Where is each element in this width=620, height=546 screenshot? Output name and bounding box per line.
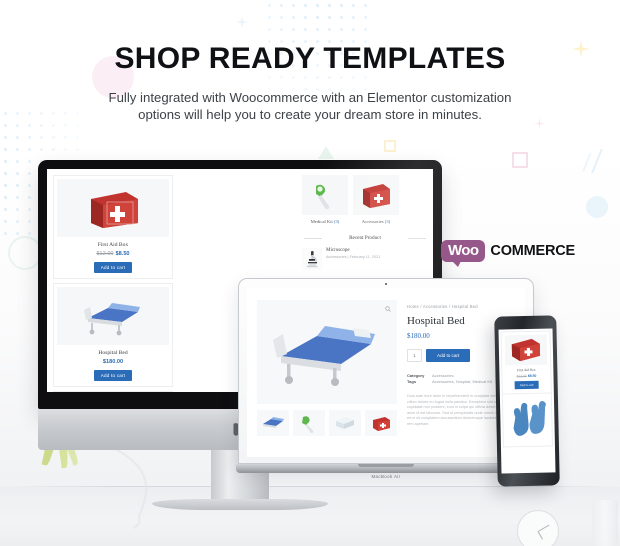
iphone-screen: First Aid Box $12.00 $8.50 Add to cart <box>498 328 555 473</box>
first-aid-box-icon <box>505 335 548 366</box>
product-price: $180.00 <box>103 359 123 365</box>
category-label: Medical Kit (3) <box>302 219 348 224</box>
product-price: $12.00$8.50 <box>96 251 129 257</box>
sparkle-blue-1 <box>236 16 248 28</box>
macbook-base: MacBook Air <box>236 464 536 473</box>
hero-banner: SHOP READY TEMPLATES Fully integrated wi… <box>0 0 620 546</box>
gallery-thumbnails <box>257 410 397 436</box>
product-price-new: $8.50 <box>116 251 130 257</box>
mobile-product-card[interactable]: First Aid Box $12.00 $8.50 Add to cart <box>501 330 552 394</box>
product-price-new: $180.00 <box>103 359 123 365</box>
category-item[interactable]: Accessories (3) <box>353 175 399 224</box>
category-item[interactable]: Medical Kit (3) <box>302 175 348 224</box>
mobile-product-title: First Aid Box <box>517 368 536 372</box>
imac-stand-foot <box>152 499 328 510</box>
first-aid-box-icon <box>57 179 169 237</box>
macbook-lid: Home / Accessories / Hospital Bed Hospit… <box>238 278 534 464</box>
category-count: (3) <box>385 219 390 224</box>
gloves-icon <box>508 400 547 441</box>
hospital-bed-icon <box>57 287 169 345</box>
subtitle-line-1: Fully integrated with Woocommerce with a… <box>0 89 620 106</box>
mobile-product-card[interactable] <box>502 393 553 447</box>
recent-product-title: Microscope <box>326 248 380 253</box>
mobile-price-old: $12.00 <box>517 374 527 378</box>
hospital-bed-icon <box>257 300 397 404</box>
page-subtitle: Fully integrated with Woocommerce with a… <box>0 89 620 123</box>
iphone-body: First Aid Box $12.00 $8.50 Add to cart <box>494 315 560 486</box>
thermometer-icon <box>302 175 348 215</box>
microscope-icon <box>302 248 322 270</box>
recent-product-heading: Recent Product <box>302 235 428 241</box>
hero-text-block: SHOP READY TEMPLATES Fully integrated wi… <box>0 44 620 123</box>
add-to-cart-button[interactable]: Add to cart <box>426 349 470 362</box>
first-aid-box-icon <box>353 175 399 215</box>
macbook-screen: Home / Accessories / Hospital Bed Hospit… <box>247 288 525 457</box>
product-card[interactable]: First Aid Box $12.00$8.50 Add to cart <box>53 175 173 279</box>
webcam-icon <box>385 283 387 285</box>
add-to-cart-button[interactable]: Add to cart <box>94 370 132 381</box>
product-card[interactable]: Hospital Bed $180.00 Add to cart <box>53 283 173 387</box>
meta-value[interactable]: Accessories, Hospital, Medical Kit <box>432 379 492 385</box>
category-list: Medical Kit (3) <box>302 175 428 224</box>
meta-key: Tags <box>407 379 425 385</box>
product-card[interactable] <box>53 391 173 392</box>
quantity-stepper[interactable]: 1 <box>407 349 422 362</box>
product-price-old: $12.00 <box>96 251 113 257</box>
decor-square-pink <box>512 152 528 168</box>
decor-triangle-mint <box>318 146 334 159</box>
hospital-bed-illustration <box>271 316 383 388</box>
woo-bubble: Woo <box>441 240 485 262</box>
decor-ring-mint <box>8 236 42 270</box>
product-detail-page: Home / Accessories / Hospital Bed Hospit… <box>247 288 525 457</box>
iphone-device: First Aid Box $12.00 $8.50 Add to cart <box>494 315 560 486</box>
product-title: First Aid Box <box>98 242 128 248</box>
add-to-cart-button[interactable]: Add to cart <box>94 262 132 273</box>
woocommerce-logo: Woo COMMERCE <box>441 240 575 262</box>
category-count: (3) <box>334 219 339 224</box>
subtitle-line-2: options will help you to create your dre… <box>0 106 620 123</box>
thumbnail-thermometer[interactable] <box>293 410 325 436</box>
desk-clock <box>517 510 559 546</box>
woo-wordmark: COMMERCE <box>490 243 575 259</box>
category-name: Accessories <box>362 219 384 224</box>
add-to-cart-button[interactable]: Add to cart <box>515 381 539 389</box>
category-name: Medical Kit <box>311 219 333 224</box>
recent-product-item[interactable]: Microscope Accessories | February 11, 20… <box>302 248 428 270</box>
thumbnail-hospital-bed[interactable] <box>257 410 289 436</box>
macbook-device: Home / Accessories / Hospital Bed Hospit… <box>238 278 534 473</box>
page-title: SHOP READY TEMPLATES <box>0 44 620 74</box>
category-label: Accessories (3) <box>353 219 399 224</box>
magnifier-icon[interactable] <box>385 306 391 312</box>
macbook-model-label: MacBook Air <box>371 474 400 479</box>
breadcrumb[interactable]: Home / Accessories / Hospital Bed <box>407 304 515 309</box>
mobile-price-new: $8.50 <box>528 374 537 378</box>
thumbnail-first-aid-box[interactable] <box>365 410 397 436</box>
mobile-product-price: $12.00 $8.50 <box>517 374 537 378</box>
thumbnail-gauze-box[interactable] <box>329 410 361 436</box>
recent-product-meta: Accessories | February 11, 2021 <box>326 255 380 259</box>
product-gallery <box>257 300 397 457</box>
desk-glass <box>592 500 618 546</box>
product-title: Hospital Bed <box>98 350 127 356</box>
decor-circle-blue <box>586 196 608 218</box>
decor-square-yellow <box>384 140 396 152</box>
